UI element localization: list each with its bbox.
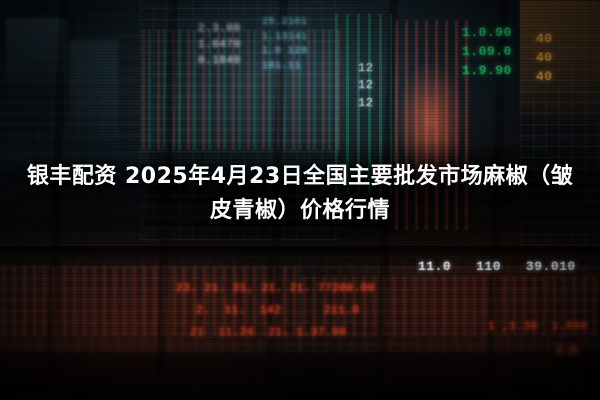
- price-readout-top-mid-left: 25.2161 1.13141 1.6 128 161.11: [262, 16, 308, 74]
- price-readout-lower-left: 23. 21. 21, 21. 21. 77200.00: [176, 282, 375, 298]
- headline-text: 银丰配资 2025年4月23日全国主要批发市场麻椒（皱皮青椒）价格行情: [0, 160, 600, 228]
- price-readout-top-far-right: 40 40 40: [536, 30, 553, 87]
- price-readout-top-mid: 12 12 12: [358, 60, 373, 112]
- price-readout-lower-right-2: 1.m: [556, 344, 577, 360]
- price-readout-lower-mid-2: 21 11.24 21. 1.37.00: [190, 326, 346, 342]
- price-readout-mid-right-white: 11.0 110 39.010: [418, 258, 576, 277]
- price-readout-lower-mid: 2. 11. 142 211.0: [196, 304, 359, 320]
- price-readout-top-left: 2.3.00 1.6470 0.1840: [198, 22, 241, 70]
- news-thumbnail-image: 2.3.00 1.6470 0.1840 25.2161 1.13141 1.6…: [0, 0, 600, 400]
- price-readout-top-right-green: 1.0.90 1.09.0 1.9.90: [462, 24, 512, 81]
- price-readout-lower-right: 1 ,1.30 1.890: [488, 320, 587, 336]
